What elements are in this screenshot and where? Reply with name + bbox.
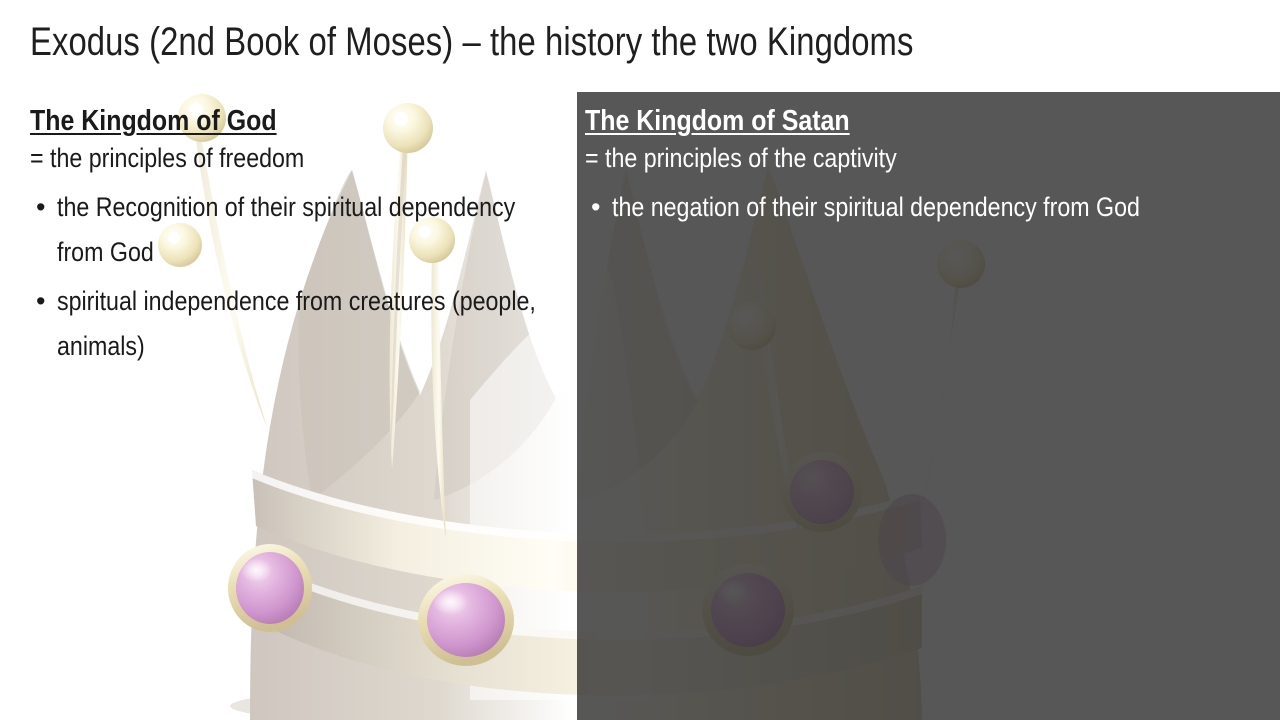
right-column-bullet-list: • the negation of their spiritual depend… bbox=[585, 185, 1275, 230]
bullet-dot-icon: • bbox=[36, 185, 45, 230]
left-column-heading: The Kingdom of God bbox=[30, 104, 477, 138]
list-item-label: spiritual independence from creatures (p… bbox=[57, 279, 549, 369]
left-column-subheading: = the principles of freedom bbox=[30, 139, 477, 177]
right-column-heading: The Kingdom of Satan bbox=[585, 104, 1178, 138]
list-item: • the negation of their spiritual depend… bbox=[585, 185, 1275, 230]
list-item: • spiritual independence from creatures … bbox=[30, 279, 550, 369]
list-item: • the Recognition of their spiritual dep… bbox=[30, 185, 550, 275]
left-column-bullet-list: • the Recognition of their spiritual dep… bbox=[30, 185, 550, 369]
list-item-label: the negation of their spiritual dependen… bbox=[612, 185, 1273, 230]
kingdom-of-god-column: The Kingdom of God = the principles of f… bbox=[30, 104, 550, 373]
list-item-label: the Recognition of their spiritual depen… bbox=[57, 185, 549, 275]
kingdom-of-satan-column: The Kingdom of Satan = the principles of… bbox=[585, 104, 1275, 234]
slide-canvas: Exodus (2nd Book of Moses) – the history… bbox=[0, 0, 1280, 720]
right-column-subheading: = the principles of the captivity bbox=[585, 139, 1178, 177]
bullet-dot-icon: • bbox=[591, 185, 600, 230]
bullet-dot-icon: • bbox=[36, 279, 45, 324]
page-title: Exodus (2nd Book of Moses) – the history… bbox=[30, 18, 913, 66]
